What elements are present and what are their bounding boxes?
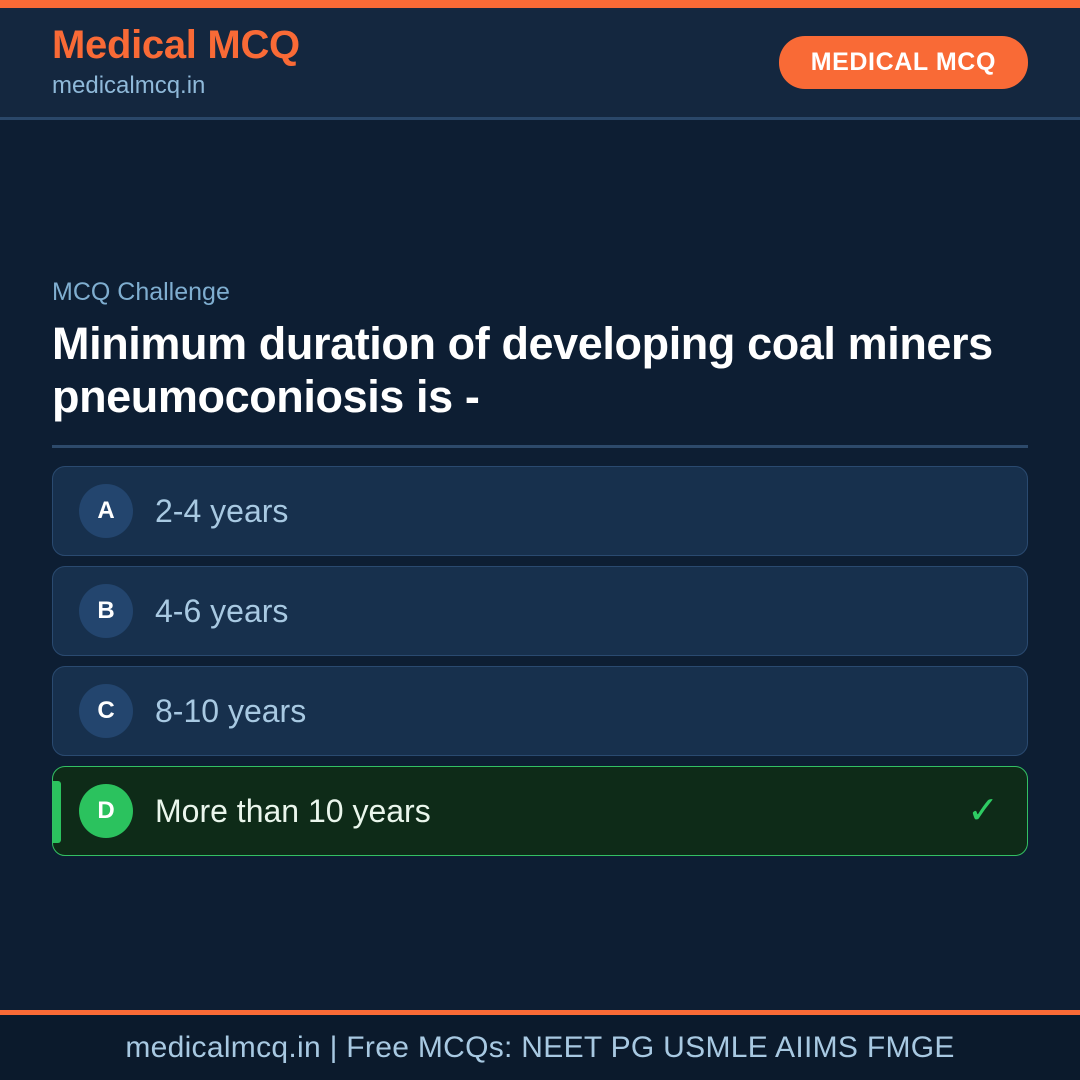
check-icon: ✓ — [967, 792, 999, 830]
option-letter-badge: A — [79, 484, 133, 538]
options-list: A 2-4 years ✓ B 4-6 years ✓ C 8-10 years… — [52, 466, 1028, 856]
option-b[interactable]: B 4-6 years ✓ — [52, 566, 1028, 656]
option-c[interactable]: C 8-10 years ✓ — [52, 666, 1028, 756]
footer-text: medicalmcq.in | Free MCQs: NEET PG USMLE… — [125, 1031, 954, 1065]
option-label: More than 10 years — [155, 792, 431, 830]
option-a[interactable]: A 2-4 years ✓ — [52, 466, 1028, 556]
page-header: Medical MCQ medicalmcq.in MEDICAL MCQ — [0, 8, 1080, 120]
option-letter-badge: B — [79, 584, 133, 638]
brand-domain: medicalmcq.in — [52, 70, 300, 101]
option-letter-badge: C — [79, 684, 133, 738]
question-divider — [52, 445, 1028, 448]
question-text: Minimum duration of developing coal mine… — [52, 317, 1028, 423]
top-accent-bar — [0, 0, 1080, 8]
page-footer: medicalmcq.in | Free MCQs: NEET PG USMLE… — [0, 1010, 1080, 1080]
option-label: 8-10 years — [155, 692, 306, 730]
brand-title: Medical MCQ — [52, 24, 300, 67]
option-d[interactable]: D More than 10 years ✓ — [52, 766, 1028, 856]
brand-block: Medical MCQ medicalmcq.in — [52, 24, 300, 100]
accent-bar — [53, 781, 61, 843]
eyebrow-label: MCQ Challenge — [52, 277, 1028, 307]
option-label: 2-4 years — [155, 492, 288, 530]
main-content: MCQ Challenge Minimum duration of develo… — [0, 123, 1080, 1010]
header-badge: MEDICAL MCQ — [779, 36, 1028, 89]
option-label: 4-6 years — [155, 592, 288, 630]
option-letter-badge: D — [79, 784, 133, 838]
